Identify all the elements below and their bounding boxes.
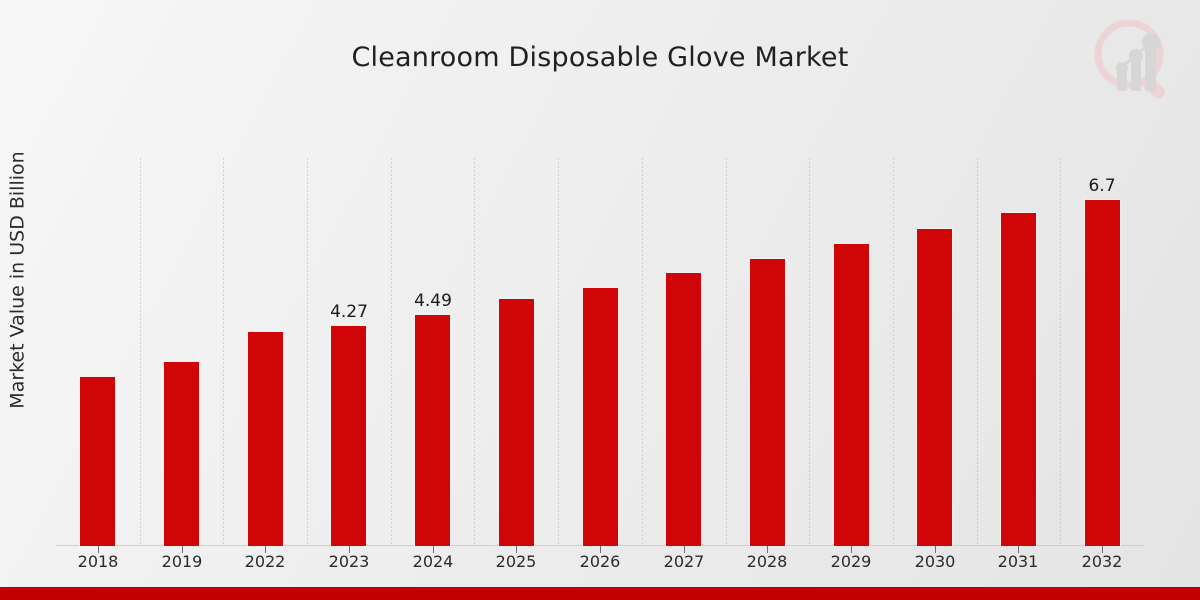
market-research-magnifier-logo: [1086, 12, 1182, 108]
bar[interactable]: [163, 361, 200, 546]
bar[interactable]: [247, 331, 284, 546]
bar[interactable]: [498, 298, 535, 546]
bar[interactable]: [916, 228, 953, 546]
bar[interactable]: [79, 376, 116, 546]
x-axis-tick-label: 2027: [644, 552, 724, 571]
y-axis-title-wrapper: Market Value in USD Billion: [0, 0, 40, 560]
bar[interactable]: [833, 243, 870, 546]
y-axis-title: Market Value in USD Billion: [7, 151, 29, 408]
x-axis-tick-label: 2032: [1062, 552, 1142, 571]
bar[interactable]: [1000, 212, 1037, 546]
x-axis-tick-label: 2023: [309, 552, 389, 571]
x-axis-tick-label: 2024: [393, 552, 473, 571]
bar[interactable]: [1084, 199, 1121, 546]
x-axis-tick-label: 2026: [560, 552, 640, 571]
bar[interactable]: [582, 287, 619, 546]
chart-title: Cleanroom Disposable Glove Market: [0, 42, 1200, 73]
x-axis-tick-label: 2022: [225, 552, 305, 571]
bar-series: 4.274.496.7: [56, 158, 1144, 546]
bar[interactable]: [665, 272, 702, 546]
x-axis-tick-label: 2029: [811, 552, 891, 571]
plot-area: 4.274.496.7 2018201920222023202420252026…: [56, 158, 1144, 546]
x-axis-tick-label: 2031: [978, 552, 1058, 571]
bar[interactable]: [330, 325, 367, 546]
footer-accent-bar: [0, 587, 1200, 600]
bar-value-label: 4.49: [393, 291, 473, 311]
bar-chart-icon: [1116, 33, 1160, 91]
bar[interactable]: [414, 314, 451, 546]
x-axis-tick-label: 2018: [58, 552, 138, 571]
x-axis-tick-label: 2028: [727, 552, 807, 571]
bar-value-label: 6.7: [1062, 176, 1142, 196]
x-axis-tick-label: 2025: [476, 552, 556, 571]
bar[interactable]: [749, 258, 786, 546]
chart-root: Cleanroom Disposable Glove Market Market…: [0, 0, 1200, 600]
x-axis-tick-label: 2030: [895, 552, 975, 571]
x-axis-tick-label: 2019: [142, 552, 222, 571]
bar-value-label: 4.27: [309, 302, 389, 322]
